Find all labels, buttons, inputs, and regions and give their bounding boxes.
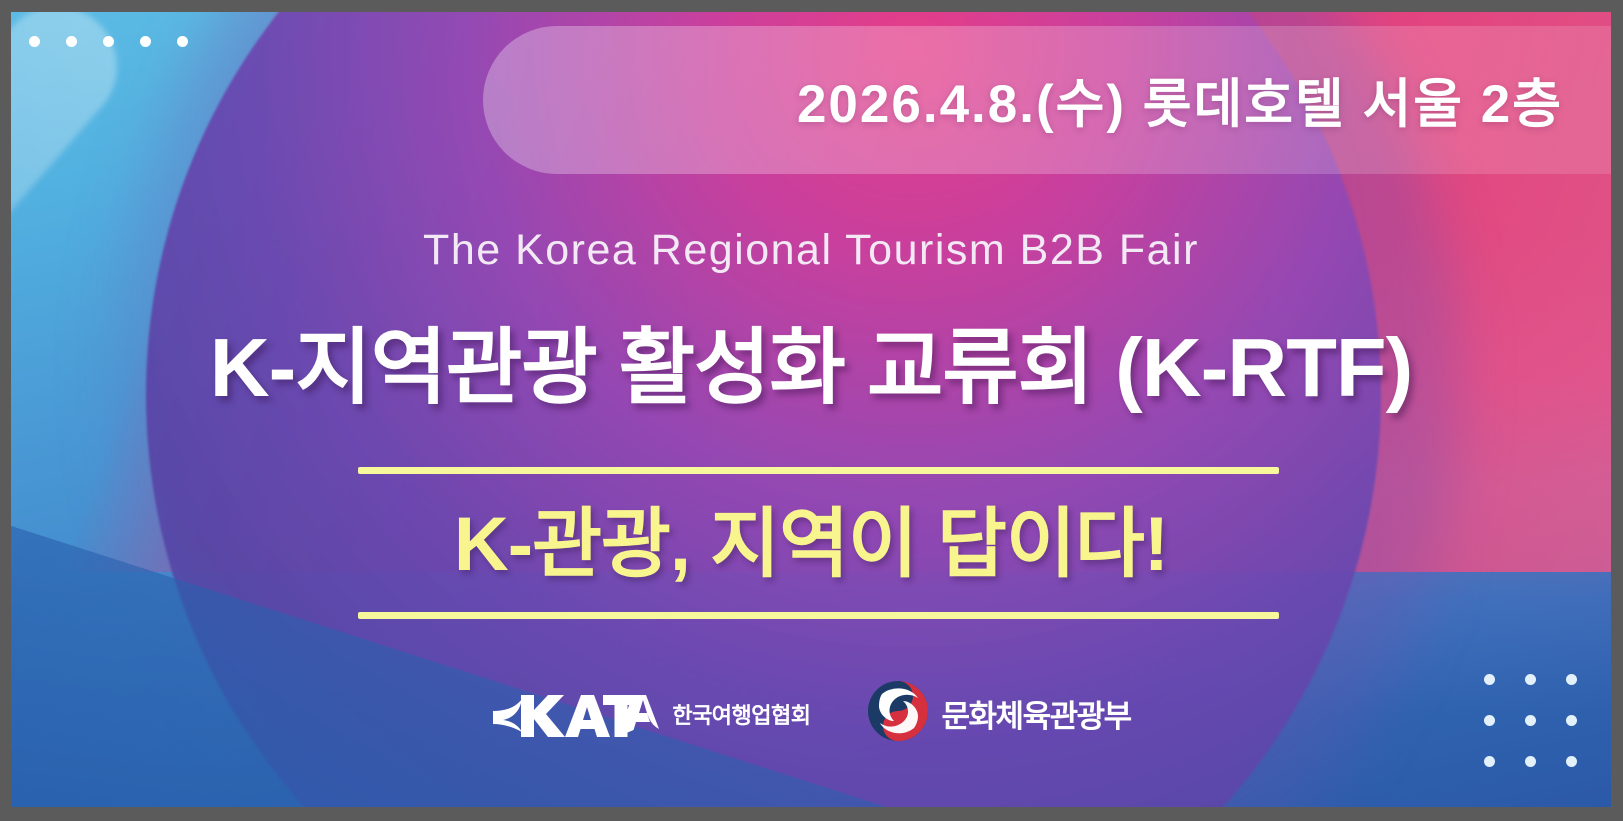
event-date-venue: 2026.4.8.(수) 롯데호텔 서울 2층 xyxy=(11,62,1563,138)
ministry-logo-label: 문화체육관광부 xyxy=(942,691,1131,736)
banner-frame: 2026.4.8.(수) 롯데호텔 서울 2층 The Korea Region… xyxy=(0,0,1623,821)
event-slogan: K-관광, 지역이 답이다! xyxy=(11,482,1611,592)
promotional-banner: 2026.4.8.(수) 롯데호텔 서울 2층 The Korea Region… xyxy=(11,12,1611,807)
logo-row: 한국여행업협회 문화체육관광부 xyxy=(11,680,1611,747)
kata-logo: 한국여행업협회 xyxy=(491,691,810,737)
dot-icon xyxy=(1525,756,1536,767)
dot-icon xyxy=(177,36,188,47)
dot-icon xyxy=(29,36,40,47)
kata-wordmark-icon xyxy=(491,691,659,737)
taegeuk-emblem-icon xyxy=(867,680,929,747)
ministry-logo: 문화체육관광부 xyxy=(867,680,1131,747)
slogan-divider-top xyxy=(358,467,1279,474)
dot-icon xyxy=(1566,756,1577,767)
dot-icon xyxy=(1484,756,1495,767)
kata-logo-label: 한국여행업협회 xyxy=(672,698,810,730)
dot-icon xyxy=(66,36,77,47)
dot-icon xyxy=(103,36,114,47)
decorative-dots-top-left xyxy=(29,36,188,47)
dot-icon xyxy=(140,36,151,47)
slogan-divider-bottom xyxy=(358,612,1279,619)
event-title-korean: K-지역관광 활성화 교류회 (K-RTF) xyxy=(11,300,1611,420)
event-subtitle-english: The Korea Regional Tourism B2B Fair xyxy=(11,226,1611,275)
